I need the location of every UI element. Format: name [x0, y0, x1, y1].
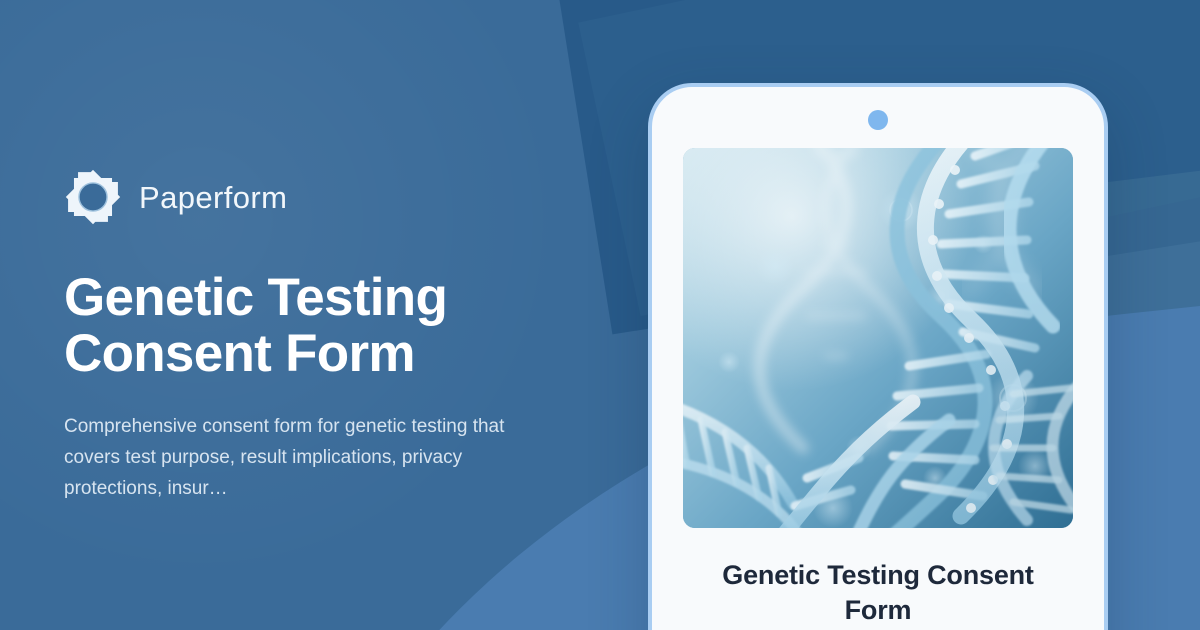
brand-name: Paperform — [139, 182, 287, 213]
hero-content: Paperform Genetic Testing Consent Form C… — [64, 168, 604, 505]
open-graph-card: Paperform Genetic Testing Consent Form C… — [0, 0, 1200, 630]
preview-caption: Genetic Testing Consent Form — [693, 558, 1063, 627]
camera-dot-icon — [868, 110, 888, 130]
paperform-rosette-logo-icon — [64, 168, 122, 226]
phone-mockup: Genetic Testing Consent Form — [648, 83, 1108, 630]
brand-lockup: Paperform — [64, 168, 604, 226]
page-title: Genetic Testing Consent Form — [64, 270, 534, 382]
page-description: Comprehensive consent form for genetic t… — [64, 412, 554, 504]
dna-double-helix-image — [683, 148, 1073, 528]
